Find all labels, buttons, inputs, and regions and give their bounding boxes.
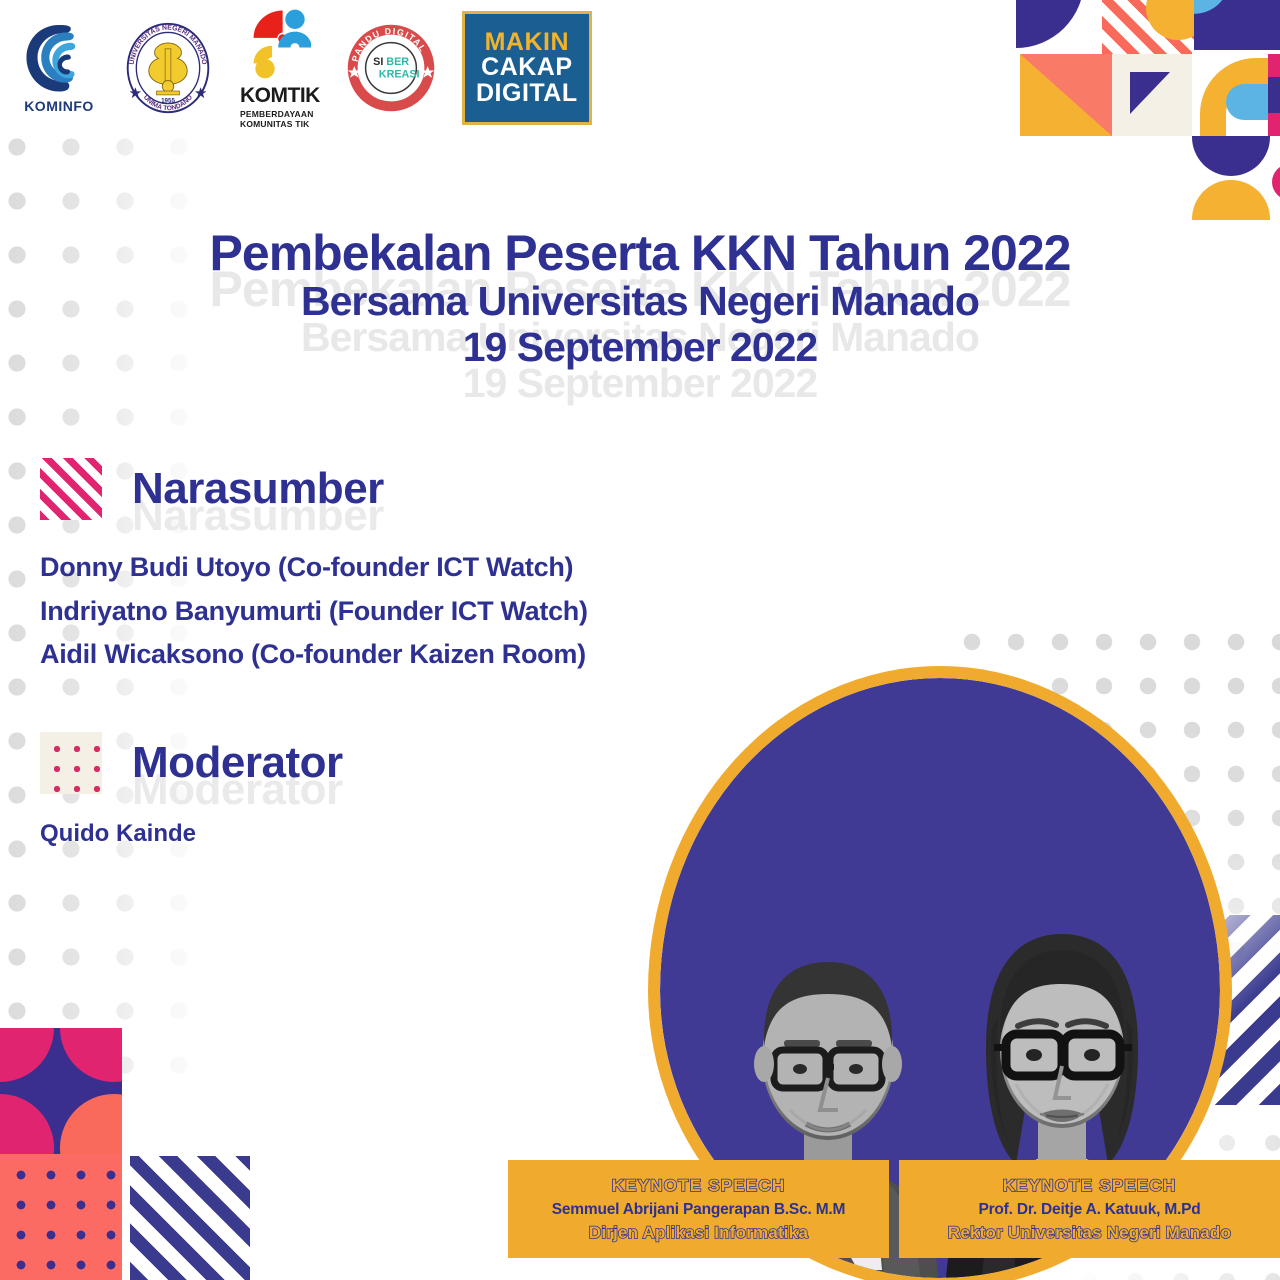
dot-grid-icon xyxy=(40,732,102,794)
keynote-banner-2: KEYNOTE SPEECH Prof. Dr. Deitje A. Katuu… xyxy=(899,1160,1280,1258)
komtik-title: KOMTIK xyxy=(240,85,320,106)
section-moderator: Moderator Moderator Quido Kainde xyxy=(40,732,343,848)
makin-line-3: DIGITAL xyxy=(476,81,578,107)
page-title: Pembekalan Peserta KKN Tahun 2022 Bersam… xyxy=(0,228,1280,369)
moderator-title-text: Moderator xyxy=(132,738,343,787)
kominfo-logo: KOMINFO xyxy=(22,22,96,114)
half-circle-yellow-shape xyxy=(1192,180,1270,220)
keynote-2-name: Prof. Dr. Deitje A. Katuuk, M.Pd xyxy=(978,1201,1200,1219)
flower-petal-shape xyxy=(0,1028,122,1154)
diagonal-stripes-icon xyxy=(40,458,102,520)
u-shape-yellow-blue xyxy=(1192,50,1280,142)
keynote-1-name: Semmuel Abrijani Pangerapan B.Sc. M.M xyxy=(552,1201,846,1219)
narasumber-title-text: Narasumber xyxy=(132,464,384,513)
komtik-sub-line1: PEMBERDAYAAN xyxy=(240,109,320,119)
headline-line-2: Bersama Universitas Negeri Manado xyxy=(0,281,1280,323)
keynote-banner-row: KEYNOTE SPEECH Semmuel Abrijani Pangerap… xyxy=(508,1160,1280,1258)
keynote-2-kicker: KEYNOTE SPEECH xyxy=(1003,1176,1177,1196)
unima-crest-icon: UNIVERSITAS NEGERI MANADO UNIMA TONDANO … xyxy=(120,20,216,116)
pandu-digital-icon: PANDU DIGITAL INDONESIA SI BER KREASI xyxy=(344,21,438,115)
komtik-sub-line2: KOMUNITAS TIK xyxy=(240,119,320,129)
triangle-split-shape xyxy=(1020,54,1112,136)
kominfo-icon xyxy=(22,22,96,96)
moderator-title: Moderator Moderator xyxy=(132,738,343,788)
narasumber-name-list: Donny Budi Utoyo (Co-founder ICT Watch) … xyxy=(40,546,588,677)
half-circle-navy-shape xyxy=(1192,136,1270,176)
svg-text:SI: SI xyxy=(373,56,383,68)
svg-text:KREASI: KREASI xyxy=(379,68,420,80)
narasumber-name-3: Aidil Wicaksono (Co-founder Kaizen Room) xyxy=(40,633,588,677)
poster-canvas: KOMINFO UNIVERSITAS NEGERI MANADO UNIMA … xyxy=(0,0,1280,1280)
logo-row: KOMINFO UNIVERSITAS NEGERI MANADO UNIMA … xyxy=(22,8,592,128)
geometric-decoration-top-right xyxy=(1006,0,1280,240)
komtik-wordmark: KOMTIK PEMBERDAYAAN KOMUNITAS TIK xyxy=(240,85,320,129)
svg-text:BER: BER xyxy=(386,56,409,68)
unima-logo: UNIVERSITAS NEGERI MANADO UNIMA TONDANO … xyxy=(120,20,216,116)
keynote-2-role: Rektor Universitas Negeri Manado xyxy=(948,1223,1231,1243)
keynote-1-kicker: KEYNOTE SPEECH xyxy=(612,1176,786,1196)
keynote-banner-1: KEYNOTE SPEECH Semmuel Abrijani Pangerap… xyxy=(508,1160,889,1258)
section-narasumber: Narasumber Narasumber Donny Budi Utoyo (… xyxy=(40,458,588,677)
makin-cakap-digital-logo: MAKIN CAKAP DIGITAL xyxy=(462,11,592,125)
narasumber-name-1: Donny Budi Utoyo (Co-founder ICT Watch) xyxy=(40,546,588,590)
pandu-digital-logo: PANDU DIGITAL INDONESIA SI BER KREASI xyxy=(344,21,438,115)
kominfo-label: KOMINFO xyxy=(24,98,94,114)
headline-line-1: Pembekalan Peserta KKN Tahun 2022 xyxy=(0,228,1280,279)
narasumber-header: Narasumber Narasumber xyxy=(40,458,588,520)
narasumber-name-2: Indriyatno Banyumurti (Founder ICT Watch… xyxy=(40,590,588,634)
svg-text:1955: 1955 xyxy=(161,98,175,105)
moderator-header: Moderator Moderator xyxy=(40,732,343,794)
moderator-name-1: Quido Kainde xyxy=(40,820,343,848)
pink-navy-bar-shape xyxy=(1268,54,1280,136)
komtik-icon xyxy=(249,7,311,81)
circle-pink-edge-shape xyxy=(1272,164,1280,200)
narasumber-title: Narasumber Narasumber xyxy=(132,464,384,514)
makin-line-2: CAKAP xyxy=(481,55,572,81)
makin-line-1: MAKIN xyxy=(485,30,569,56)
polka-dot-tile-shape xyxy=(0,1154,122,1280)
headline-line-3: 19 September 2022 xyxy=(0,327,1280,369)
diagonal-stripes-navy-shape xyxy=(130,1156,250,1280)
cream-tile-with-triangle xyxy=(1112,54,1194,136)
keynote-1-role: Dirjen Aplikasi Informatika xyxy=(589,1223,808,1243)
komtik-logo: KOMTIK PEMBERDAYAAN KOMUNITAS TIK xyxy=(240,7,320,129)
